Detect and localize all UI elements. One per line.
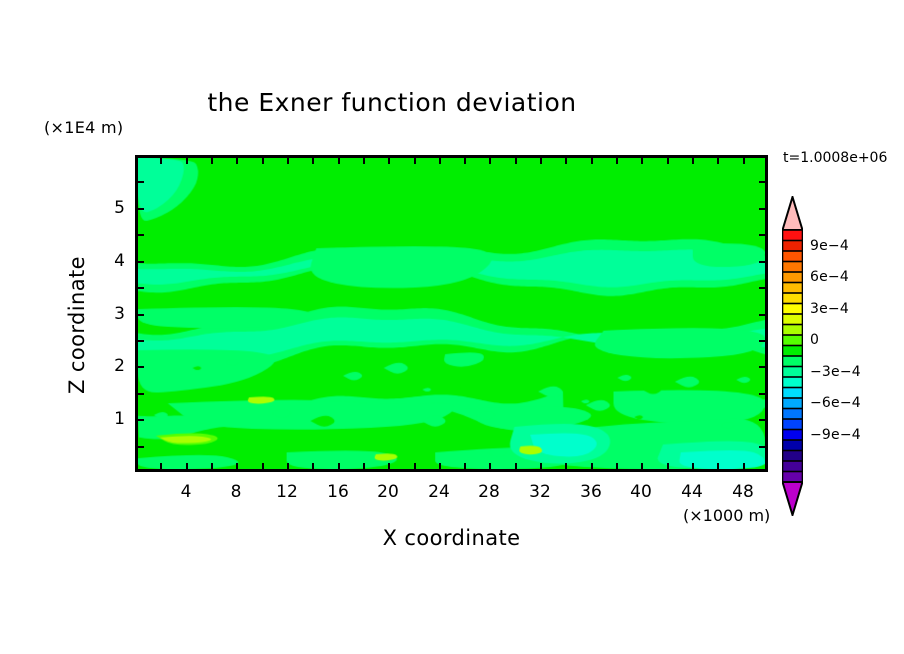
x-axis-tick — [489, 463, 491, 472]
x-axis-tick — [338, 463, 340, 472]
y-axis-tick — [135, 340, 144, 342]
colorbar-band-17 — [783, 409, 803, 420]
y-axis-tick — [135, 393, 144, 395]
colorbar-band-20 — [783, 440, 803, 451]
x-tick-label-24: 24 — [428, 482, 450, 502]
x-axis-tick — [540, 463, 542, 472]
x-axis-tick — [363, 463, 365, 472]
x-axis-tick-top — [414, 155, 416, 164]
x-axis-tick — [287, 463, 289, 472]
x-axis-tick — [211, 463, 213, 472]
y-axis-tick — [135, 234, 144, 236]
x-axis-tick-top — [692, 155, 694, 164]
y-axis-tick-right — [759, 446, 768, 448]
y-axis-tick-right — [759, 340, 768, 342]
timestamp-annotation: t=1.0008e+06 — [783, 150, 887, 166]
colorbar-band-4 — [783, 272, 803, 283]
contour-field — [138, 158, 765, 469]
y-axis-tick — [135, 366, 144, 368]
x-axis-unit-label: (×1000 m) — [683, 506, 770, 525]
colorbar-band-18 — [783, 419, 803, 430]
y-tick-label-1: 1 — [99, 409, 125, 429]
x-axis-tick-top — [565, 155, 567, 164]
colorbar-band-9 — [783, 325, 803, 336]
colorbar-band-3 — [783, 262, 803, 273]
y-axis-tick — [135, 287, 144, 289]
x-axis-tick-top — [236, 155, 238, 164]
x-axis-tick — [692, 463, 694, 472]
x-axis-tick — [414, 463, 416, 472]
colorbar-band-8 — [783, 314, 803, 325]
x-axis-tick — [743, 463, 745, 472]
x-axis-tick-top — [186, 155, 188, 164]
x-tick-label-8: 8 — [231, 482, 242, 502]
colorbar-band-0 — [783, 230, 803, 241]
colorbar-band-1 — [783, 241, 803, 252]
y-tick-label-3: 3 — [99, 304, 125, 324]
y-axis-tick-right — [759, 419, 768, 421]
y-axis-tick — [135, 261, 144, 263]
colorbar-band-6 — [783, 293, 803, 304]
x-axis-tick — [591, 463, 593, 472]
y-axis-tick — [135, 314, 144, 316]
x-axis-title: X coordinate — [135, 526, 768, 550]
x-axis-tick — [160, 463, 162, 472]
x-axis-tick-top — [743, 155, 745, 164]
colorbar-band-14 — [783, 377, 803, 388]
y-axis-tick-right — [759, 287, 768, 289]
x-axis-tick — [186, 463, 188, 472]
x-axis-tick — [515, 463, 517, 472]
colorbar-under-arrow — [783, 482, 803, 515]
colorbar-band-5 — [783, 283, 803, 294]
x-axis-tick — [616, 463, 618, 472]
x-tick-label-20: 20 — [377, 482, 399, 502]
colorbar — [782, 196, 803, 516]
x-axis-tick — [464, 463, 466, 472]
x-axis-tick-top — [717, 155, 719, 164]
colorbar-svg — [782, 196, 803, 516]
colorbar-band-16 — [783, 398, 803, 409]
colorbar-label-6: −9e−4 — [810, 427, 861, 443]
colorbar-over-arrow — [783, 197, 803, 230]
y-tick-label-2: 2 — [99, 356, 125, 376]
x-tick-label-36: 36 — [580, 482, 602, 502]
x-axis-tick-top — [338, 155, 340, 164]
x-tick-label-40: 40 — [630, 482, 652, 502]
x-tick-label-12: 12 — [276, 482, 298, 502]
y-axis-tick — [135, 419, 144, 421]
x-axis-tick — [641, 463, 643, 472]
x-axis-tick — [312, 463, 314, 472]
y-axis-tick — [135, 208, 144, 210]
colorbar-band-10 — [783, 335, 803, 346]
x-tick-label-48: 48 — [732, 482, 754, 502]
x-axis-tick-top — [515, 155, 517, 164]
x-axis-tick — [717, 463, 719, 472]
y-axis-title: Z coordinate — [65, 225, 89, 425]
y-tick-label-5: 5 — [99, 198, 125, 218]
y-axis-tick-right — [759, 234, 768, 236]
x-axis-tick-top — [616, 155, 618, 164]
y-axis-tick-right — [759, 366, 768, 368]
x-axis-tick — [236, 463, 238, 472]
colorbar-label-5: −6e−4 — [810, 395, 861, 411]
x-axis-tick-top — [540, 155, 542, 164]
colorbar-band-13 — [783, 367, 803, 378]
colorbar-label-3: 0 — [810, 332, 819, 348]
x-axis-tick-top — [363, 155, 365, 164]
x-tick-label-4: 4 — [181, 482, 192, 502]
x-axis-tick-top — [262, 155, 264, 164]
x-axis-tick — [262, 463, 264, 472]
y-tick-label-4: 4 — [99, 251, 125, 271]
y-axis-tick — [135, 181, 144, 183]
page-title: the Exner function deviation — [0, 88, 784, 117]
colorbar-label-0: 9e−4 — [810, 238, 849, 254]
x-tick-label-28: 28 — [478, 482, 500, 502]
x-tick-label-32: 32 — [529, 482, 551, 502]
colorbar-band-15 — [783, 388, 803, 399]
y-axis-tick-right — [759, 208, 768, 210]
x-axis-tick-top — [211, 155, 213, 164]
colorbar-band-22 — [783, 461, 803, 472]
x-tick-label-44: 44 — [681, 482, 703, 502]
colorbar-band-11 — [783, 346, 803, 357]
colorbar-band-2 — [783, 251, 803, 262]
colorbar-label-1: 6e−4 — [810, 269, 849, 285]
x-axis-tick-top — [312, 155, 314, 164]
colorbar-band-19 — [783, 430, 803, 441]
x-axis-tick-top — [287, 155, 289, 164]
y-axis-tick-right — [759, 261, 768, 263]
y-axis-unit-label: (×1E4 m) — [44, 118, 123, 137]
colorbar-label-2: 3e−4 — [810, 301, 849, 317]
colorbar-label-4: −3e−4 — [810, 364, 861, 380]
colorbar-band-7 — [783, 304, 803, 315]
x-axis-tick — [667, 463, 669, 472]
x-axis-tick — [388, 463, 390, 472]
y-axis-tick-right — [759, 314, 768, 316]
x-axis-tick-top — [641, 155, 643, 164]
y-axis-tick — [135, 446, 144, 448]
colorbar-band-23 — [783, 472, 803, 483]
y-axis-tick-right — [759, 181, 768, 183]
contour-plot-area — [135, 155, 768, 472]
x-axis-tick-top — [591, 155, 593, 164]
x-axis-tick — [439, 463, 441, 472]
x-axis-tick-top — [464, 155, 466, 164]
colorbar-band-12 — [783, 356, 803, 367]
x-axis-tick-top — [489, 155, 491, 164]
x-axis-tick-top — [160, 155, 162, 164]
y-axis-tick-right — [759, 393, 768, 395]
colorbar-band-21 — [783, 451, 803, 462]
x-axis-tick-top — [667, 155, 669, 164]
x-axis-tick-top — [388, 155, 390, 164]
x-tick-label-16: 16 — [327, 482, 349, 502]
x-axis-tick — [565, 463, 567, 472]
x-axis-tick-top — [439, 155, 441, 164]
